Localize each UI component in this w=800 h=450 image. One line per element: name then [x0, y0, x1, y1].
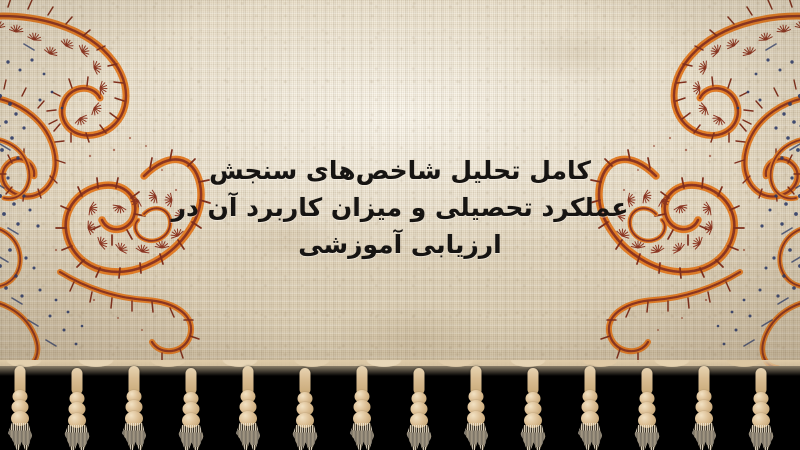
tassel	[682, 366, 726, 450]
paisley-ornament-right	[506, 0, 800, 382]
tassel	[340, 366, 384, 450]
tassel	[511, 368, 555, 450]
tassel	[0, 366, 42, 450]
slide-canvas: کامل تحلیل شاخص‌های سنجش عملکرد تحصیلی و…	[0, 0, 800, 450]
paisley-ornament-left	[0, 0, 294, 382]
tassel	[625, 368, 669, 450]
tassel	[397, 368, 441, 450]
tassel-fringe	[0, 366, 800, 450]
tassel	[226, 366, 270, 450]
tassel	[283, 368, 327, 450]
tassel	[112, 366, 156, 450]
tassel	[739, 368, 783, 450]
tassel	[169, 368, 213, 450]
tassel	[454, 366, 498, 450]
tassel	[568, 366, 612, 450]
tassel	[55, 368, 99, 450]
